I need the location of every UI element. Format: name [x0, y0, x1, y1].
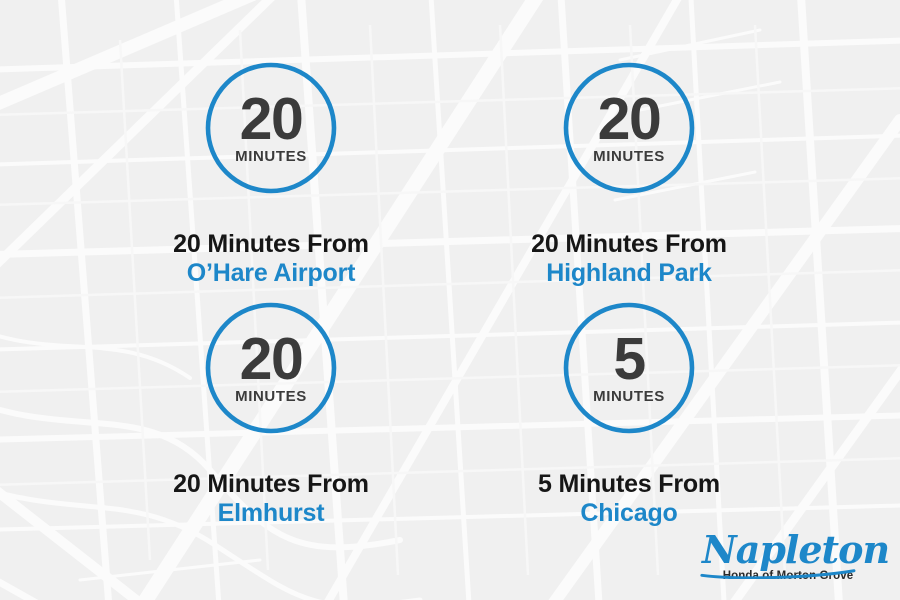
caption-duration-line: 20 Minutes From: [173, 470, 369, 499]
badge-cell-highland-park: 20 MINUTES 20 Minutes From Highland Park: [450, 62, 808, 302]
badge-unit-label: MINUTES: [593, 389, 665, 404]
caption-place-name: Highland Park: [531, 259, 727, 288]
napleton-logo: Napleton Honda of Morton Grove: [702, 531, 874, 582]
badge-unit-label: MINUTES: [235, 149, 307, 164]
minutes-badge-chicago: 5 MINUTES: [563, 302, 695, 434]
badge-caption-highland-park: 20 Minutes From Highland Park: [531, 230, 727, 289]
caption-duration-line: 20 Minutes From: [173, 230, 369, 259]
badge-cell-ohare-airport: 20 MINUTES 20 Minutes From O’Hare Airpor…: [92, 62, 450, 302]
minutes-badge-elmhurst: 20 MINUTES: [205, 302, 337, 434]
badge-caption-ohare-airport: 20 Minutes From O’Hare Airport: [173, 230, 369, 289]
badge-unit-label: MINUTES: [593, 149, 665, 164]
caption-place-name: Elmhurst: [173, 499, 369, 528]
caption-duration-line: 5 Minutes From: [538, 470, 720, 499]
badge-unit-label: MINUTES: [235, 389, 307, 404]
badge-caption-chicago: 5 Minutes From Chicago: [538, 470, 720, 529]
badge-number: 20: [240, 332, 303, 386]
badge-grid: 20 MINUTES 20 Minutes From O’Hare Airpor…: [0, 0, 900, 600]
logo-wordmark: Napleton: [702, 531, 889, 569]
badge-number: 5: [613, 332, 644, 386]
minutes-badge-ohare-airport: 20 MINUTES: [205, 62, 337, 194]
minutes-badge-highland-park: 20 MINUTES: [563, 62, 695, 194]
caption-duration-line: 20 Minutes From: [531, 230, 727, 259]
badge-caption-elmhurst: 20 Minutes From Elmhurst: [173, 470, 369, 529]
caption-place-name: Chicago: [538, 499, 720, 528]
badge-number: 20: [598, 92, 661, 146]
badge-cell-elmhurst: 20 MINUTES 20 Minutes From Elmhurst: [92, 302, 450, 542]
infographic-canvas: 20 MINUTES 20 Minutes From O’Hare Airpor…: [0, 0, 900, 600]
badge-number: 20: [240, 92, 303, 146]
badge-cell-chicago: 5 MINUTES 5 Minutes From Chicago: [450, 302, 808, 542]
caption-place-name: O’Hare Airport: [173, 259, 369, 288]
